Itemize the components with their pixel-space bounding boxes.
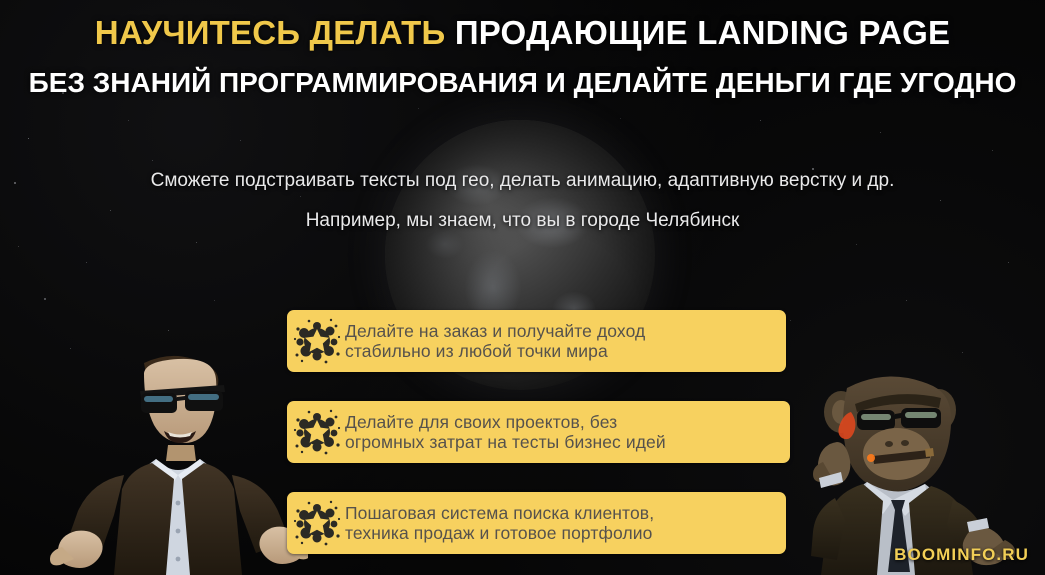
- headline-gold-part: НАУЧИТЕСЬ ДЕЛАТЬ: [95, 14, 455, 51]
- star-splatter-icon: [293, 408, 341, 456]
- benefit-item-1[interactable]: Делайте на заказ и получайте доход стаби…: [287, 310, 786, 372]
- star-splatter-icon: [293, 317, 341, 365]
- benefits-list: Делайте на заказ и получайте доход стаби…: [287, 310, 792, 554]
- star-splatter-icon: [293, 499, 341, 547]
- page-subtitle-heading: БЕЗ ЗНАНИЙ ПРОГРАММИРОВАНИЯ И ДЕЛАЙТЕ ДЕ…: [0, 67, 1045, 99]
- site-watermark: BOOMINFO.RU: [894, 545, 1029, 565]
- benefit-item-3-text: Пошаговая система поиска клиентов, техни…: [345, 503, 664, 544]
- promo-banner: НАУЧИТЕСЬ ДЕЛАТЬ ПРОДАЮЩИЕ LANDING PAGE …: [0, 0, 1045, 575]
- benefit-item-2-text: Делайте для своих проектов, без огромных…: [345, 412, 676, 453]
- benefit-item-2[interactable]: Делайте для своих проектов, без огромных…: [287, 401, 790, 463]
- monkey-in-suit-illustration: [767, 350, 1017, 575]
- page-title: НАУЧИТЕСЬ ДЕЛАТЬ ПРОДАЮЩИЕ LANDING PAGE: [0, 14, 1045, 52]
- man-in-sunglasses-illustration: [48, 345, 308, 575]
- description-line-2: Например, мы знаем, что вы в городе Челя…: [0, 210, 1045, 232]
- benefit-item-1-text: Делайте на заказ и получайте доход стаби…: [345, 321, 655, 362]
- benefit-item-3[interactable]: Пошаговая система поиска клиентов, техни…: [287, 492, 786, 554]
- description-line-1: Сможете подстраивать тексты под гео, дел…: [0, 170, 1045, 192]
- headline-white-part: ПРОДАЮЩИЕ LANDING PAGE: [455, 14, 950, 51]
